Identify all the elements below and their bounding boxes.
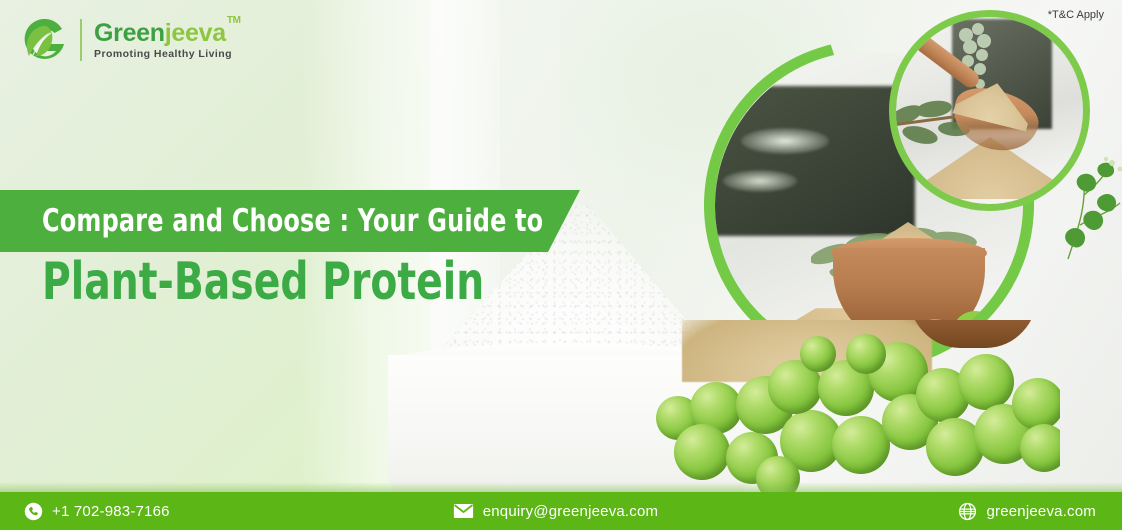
logo-tagline: Promoting Healthy Living: [94, 48, 240, 60]
logo-divider: [80, 19, 82, 61]
email-icon: [453, 503, 474, 519]
promotional-banner: GreenjeevaTM Promoting Healthy Living *T…: [0, 0, 1122, 530]
page-title: Plant-Based Protein: [42, 256, 484, 308]
globe-icon: [958, 502, 977, 521]
peas-pile-image: [640, 320, 1060, 492]
contact-email[interactable]: enquiry@greenjeeva.com: [453, 503, 659, 520]
terms-and-conditions-note: *T&C Apply: [1048, 9, 1104, 21]
ivy-sprig-icon: [1060, 155, 1122, 265]
contact-website-label: greenjeeva.com: [986, 503, 1096, 520]
contact-website[interactable]: greenjeeva.com: [958, 502, 1096, 521]
trademark-symbol: TM: [227, 15, 241, 26]
headline-ribbon-text: Compare and Choose : Your Guide to: [42, 203, 543, 239]
contact-email-label: enquiry@greenjeeva.com: [483, 503, 659, 520]
logo-name-part2: jeeva: [165, 19, 226, 47]
brand-logo[interactable]: GreenjeevaTM Promoting Healthy Living: [18, 14, 240, 66]
logo-name-part1: Green: [94, 19, 165, 47]
contact-phone[interactable]: +1 702-983-7166: [24, 502, 170, 521]
logo-name: GreenjeevaTM: [94, 20, 240, 46]
footer-top-fade: [0, 482, 1122, 492]
headline-ribbon: Compare and Choose : Your Guide to: [0, 190, 580, 252]
contact-footer-bar: +1 702-983-7166 enquiry@greenjeeva.com g…: [0, 492, 1122, 530]
greenjeeva-leaf-g-logo-icon: [18, 14, 70, 66]
contact-phone-label: +1 702-983-7166: [52, 503, 170, 520]
phone-icon: [24, 502, 43, 521]
